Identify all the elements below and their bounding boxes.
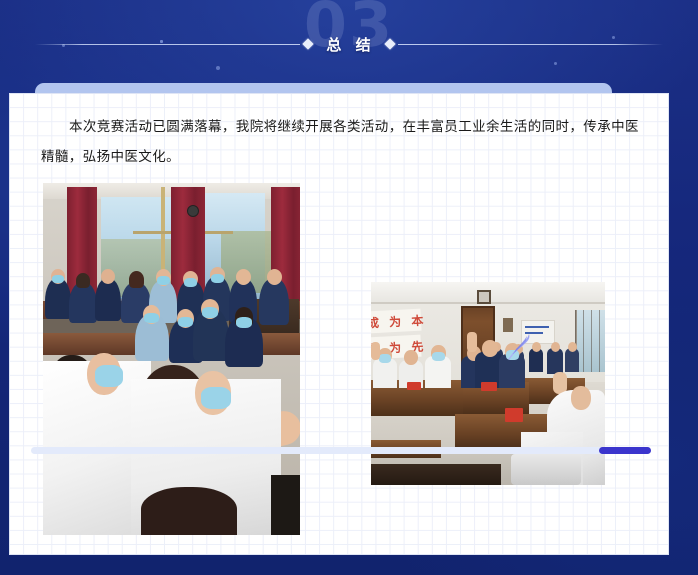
page-title: 总 结: [316, 34, 381, 55]
title-rule-right: [398, 44, 663, 45]
feather-icon: [507, 331, 535, 361]
title-rule-left: [35, 44, 300, 45]
meeting-room-photo[interactable]: 成 为 本 言 为 先: [371, 282, 605, 485]
section-title-row: 总 结: [0, 31, 698, 57]
banner-line-1: 成 为 本: [371, 311, 427, 331]
horizontal-scrollbar-thumb[interactable]: [599, 447, 651, 454]
section-header: 03 总 结: [0, 0, 698, 83]
content-card: 本次竞赛活动已圆满落幕，我院将继续开展各类活动，在丰富员工业余生活的同时，传承中…: [9, 93, 669, 555]
summary-paragraph: 本次竞赛活动已圆满落幕，我院将继续开展各类活动，在丰富员工业余生活的同时，传承中…: [41, 112, 641, 172]
horizontal-scrollbar-track[interactable]: [31, 447, 651, 454]
diamond-right-icon: [384, 38, 395, 49]
classroom-audience-photo[interactable]: [43, 183, 300, 535]
diamond-left-icon: [303, 38, 314, 49]
